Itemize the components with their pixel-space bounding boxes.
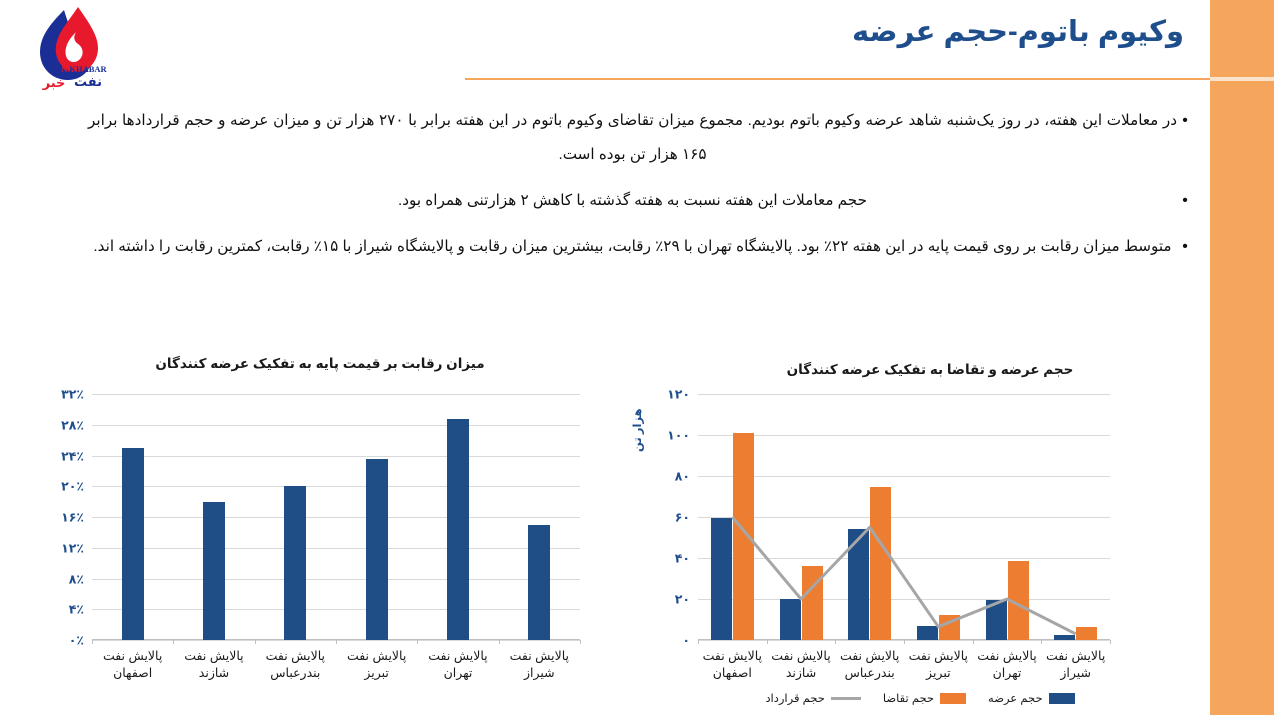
x-axis-tick	[904, 640, 905, 644]
gridline	[92, 425, 580, 426]
bullet-text: متوسط میزان رقابت بر روی قیمت پایه در ای…	[88, 230, 1177, 264]
x-axis-tick	[173, 640, 174, 644]
y-axis-tick-label: ۴۰	[646, 551, 690, 566]
bar-میزان رقابت	[284, 486, 306, 640]
y-axis-tick-label: ۸٪	[32, 571, 84, 586]
x-axis-tick	[973, 640, 974, 644]
x-axis-tick	[499, 640, 500, 644]
x-axis-label: پالایش نفتشیراز	[1033, 648, 1118, 682]
x-axis-tick	[835, 640, 836, 644]
y-axis-tick-label: ۲۰	[646, 592, 690, 607]
right-accent-band-notch	[1210, 77, 1274, 81]
legend-line-icon	[831, 697, 861, 700]
x-axis-tick	[767, 640, 768, 644]
bullet-dot-icon: •	[1177, 104, 1193, 172]
bar-میزان رقابت	[203, 502, 225, 640]
gridline	[92, 609, 580, 610]
x-axis-tick	[92, 640, 93, 644]
x-axis-tick	[1041, 640, 1042, 644]
naftkhabar-logo: NAFT KHABAR نفت خبر	[18, 2, 128, 90]
y-axis-tick-label: ۶۰	[646, 510, 690, 525]
list-item: • حجم معاملات این هفته نسبت به هفته گذشت…	[88, 184, 1193, 218]
gridline	[92, 486, 580, 487]
bullet-text: در معاملات این هفته، در روز یک‌شنبه شاهد…	[88, 104, 1177, 172]
bar-میزان رقابت	[122, 448, 144, 640]
chart-competition: میزان رقابت بر قیمت پایه به تفکیک عرضه ک…	[0, 348, 620, 715]
chart-supply-demand: حجم عرضه و تقاضا به تفکیک عرضه کنندگان ه…	[620, 348, 1220, 715]
y-axis-tick-label: ۴٪	[32, 602, 84, 617]
x-axis-tick	[336, 640, 337, 644]
x-axis-label: پالایش نفتشیراز	[489, 648, 590, 682]
list-item: • متوسط میزان رقابت بر روی قیمت پایه در …	[88, 230, 1193, 264]
y-axis-tick-label: ۸۰	[646, 469, 690, 484]
bullet-dot-icon: •	[1177, 230, 1193, 264]
x-axis-tick	[255, 640, 256, 644]
y-axis-tick-label: ۲۸٪	[32, 417, 84, 432]
legend-item-contract: حجم قرارداد	[765, 691, 860, 705]
x-axis-label-line: شیراز	[489, 665, 590, 682]
gridline	[92, 548, 580, 549]
legend-item-demand: حجم تقاضا	[883, 691, 966, 705]
bullet-text: حجم معاملات این هفته نسبت به هفته گذشته …	[88, 184, 1177, 218]
x-axis-label-line: پالایش نفت	[1033, 648, 1118, 665]
bullet-dot-icon: •	[1177, 184, 1193, 218]
x-axis-label-line: پالایش نفت	[489, 648, 590, 665]
y-axis-tick-label: ۱۲۰	[646, 387, 690, 402]
svg-text:نفت: نفت	[74, 75, 102, 90]
plot-area: ۱۲۰۱۰۰۸۰۶۰۴۰۲۰۰	[698, 394, 1110, 640]
y-axis-tick-label: ۲۰٪	[32, 479, 84, 494]
x-axis-tick	[580, 640, 581, 644]
chart-legend: حجم عرضه حجم تقاضا حجم قرارداد	[640, 688, 1200, 708]
gridline	[92, 517, 580, 518]
x-axis-label-line: شیراز	[1033, 665, 1118, 682]
x-axis-tick	[1110, 640, 1111, 644]
y-axis-title: هزار تن	[630, 408, 644, 452]
y-axis-tick-label: ۱۲٪	[32, 540, 84, 555]
bar-میزان رقابت	[528, 525, 550, 640]
x-axis-tick	[698, 640, 699, 644]
y-axis-tick-label: ۰	[646, 633, 690, 648]
svg-text:خبر: خبر	[42, 76, 66, 90]
contract-volume-line	[698, 394, 1110, 640]
svg-text:KHABAR: KHABAR	[69, 64, 107, 74]
legend-swatch-icon	[940, 693, 966, 704]
legend-label: حجم قرارداد	[765, 691, 824, 705]
y-axis-tick-label: ۱۰۰	[646, 428, 690, 443]
title-underline-rule	[465, 78, 1210, 80]
chart-title: حجم عرضه و تقاضا به تفکیک عرضه کنندگان	[740, 362, 1120, 378]
plot-area: ۳۲٪۲۸٪۲۴٪۲۰٪۱۶٪۱۲٪۸٪۴٪۰٪	[92, 394, 580, 640]
bar-میزان رقابت	[366, 459, 388, 640]
y-axis-tick-label: ۳۲٪	[32, 387, 84, 402]
gridline	[92, 394, 580, 395]
chart-title: میزان رقابت بر قیمت پایه به تفکیک عرضه ک…	[110, 356, 530, 372]
y-axis-tick-label: ۱۶٪	[32, 510, 84, 525]
list-item: • در معاملات این هفته، در روز یک‌شنبه شا…	[88, 104, 1193, 172]
bullet-list: • در معاملات این هفته، در روز یک‌شنبه شا…	[88, 104, 1193, 276]
legend-item-supply: حجم عرضه	[988, 691, 1075, 705]
y-axis-tick-label: ۲۴٪	[32, 448, 84, 463]
x-axis-tick	[417, 640, 418, 644]
page-title: وکیوم باتوم-حجم عرضه	[484, 14, 1184, 49]
legend-label: حجم عرضه	[988, 691, 1043, 705]
gridline	[92, 456, 580, 457]
legend-label: حجم تقاضا	[883, 691, 934, 705]
y-axis-tick-label: ۰٪	[32, 633, 84, 648]
gridline	[92, 579, 580, 580]
bar-میزان رقابت	[447, 419, 469, 640]
legend-swatch-icon	[1049, 693, 1075, 704]
